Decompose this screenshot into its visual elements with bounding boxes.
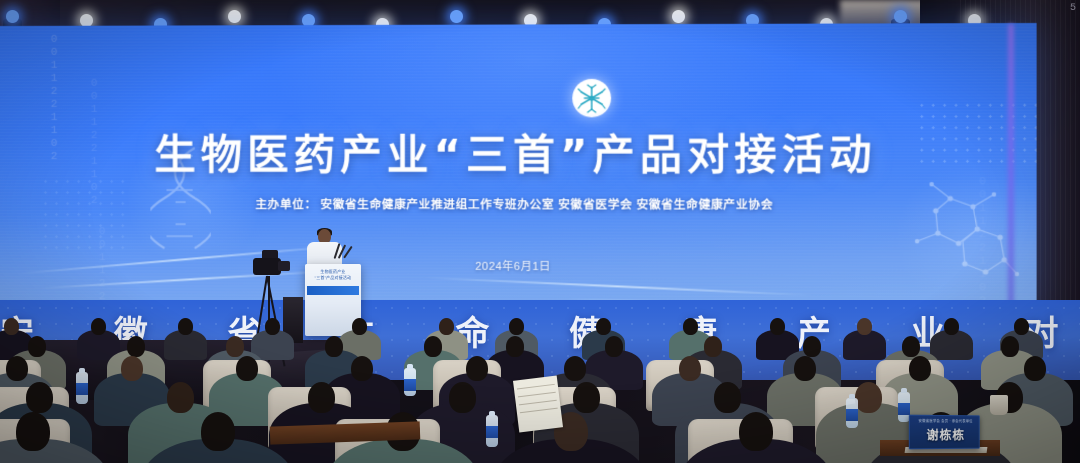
screen-edge-glow <box>1008 24 1014 319</box>
stage-light-4 <box>228 10 241 23</box>
audience-member-head <box>605 336 623 357</box>
audience-member-head <box>178 318 193 335</box>
audience-member-head <box>424 336 442 357</box>
audience-member-head <box>564 356 586 381</box>
audience-member-head <box>739 412 773 451</box>
audience-member-head <box>351 356 373 381</box>
podium-sign-line2: “三首”产品对接活动 <box>308 275 358 281</box>
audience-member-head <box>352 318 367 335</box>
light-streak-3 <box>424 277 813 297</box>
audience-member-head <box>506 336 524 357</box>
audience-member-head <box>6 356 28 381</box>
audience-member-head <box>803 336 821 357</box>
handout-document <box>513 376 563 433</box>
audience-member-head <box>439 318 454 335</box>
audience-member-head <box>944 318 959 335</box>
audience-member-head <box>26 382 53 413</box>
dot-grid-left <box>40 176 130 256</box>
bottle-cap <box>849 394 855 399</box>
banner-date: 2024年6月1日 <box>0 257 1037 275</box>
audience-member-head <box>449 382 476 413</box>
stage-light-7 <box>450 10 463 23</box>
stage-light-bulb <box>894 10 907 23</box>
audience-member-head <box>679 356 701 381</box>
bottle-cap <box>901 388 907 393</box>
audience-member-head <box>509 318 524 335</box>
audience-member-head <box>714 382 741 413</box>
audience-member-head <box>1014 318 1029 335</box>
stage-light-13 <box>894 10 907 23</box>
stage-light-bulb <box>228 10 241 23</box>
paper-line <box>520 408 558 414</box>
audience-member-head <box>236 356 258 381</box>
bottle-label <box>486 426 498 438</box>
paper-line <box>517 384 555 390</box>
audience-member-head <box>855 382 882 413</box>
audience-member-head <box>902 336 920 357</box>
audience-member-head <box>91 318 106 335</box>
audience-member-head <box>325 336 343 357</box>
audience-member-head <box>16 412 50 451</box>
audience-member-head <box>1024 356 1046 381</box>
audience-member-head <box>308 382 335 413</box>
audience-member-head <box>704 336 722 357</box>
paper-cup <box>990 395 1008 415</box>
audience-member-head <box>265 318 280 335</box>
water-bottle-2 <box>76 372 88 404</box>
name-placard: 安徽省医学会 会员 · 参会代表单位 谢栋栋 <box>909 415 980 450</box>
audience-member-head <box>167 382 194 413</box>
audience-member-head <box>226 336 244 357</box>
paper-line <box>519 400 557 406</box>
audience-member-head <box>28 336 46 357</box>
water-bottle-3 <box>404 368 416 396</box>
placard-organization: 安徽省医学会 会员 · 参会代表单位 <box>910 418 981 423</box>
water-bottle-4 <box>846 398 858 428</box>
bottle-label <box>404 379 416 391</box>
camera-body <box>253 258 281 275</box>
audience-member-head <box>770 318 785 335</box>
camera-lens <box>278 261 290 271</box>
paper-line <box>518 392 556 398</box>
bottle-label <box>76 383 88 395</box>
audience-member-head <box>573 382 600 413</box>
audience-member-head <box>794 356 816 381</box>
bottle-label <box>846 409 858 421</box>
main-led-screen: 0011221102 0011221102 0011221102 0011221… <box>0 23 1037 319</box>
audience-member-head <box>201 412 235 451</box>
audience-member-head <box>4 318 19 335</box>
audience-member-head <box>466 356 488 381</box>
stage-light-10 <box>672 10 685 23</box>
conference-photo: 0011221102 0011221102 0011221102 0011221… <box>0 0 1080 463</box>
stage-light-bulb <box>6 10 19 23</box>
audience-member-head <box>127 336 145 357</box>
bottle-cap <box>79 368 85 373</box>
banner-title: 生物医药产业“三首”产品对接活动 <box>0 120 1037 181</box>
radiating-star-emblem-icon <box>576 83 607 113</box>
audience-member-head <box>857 318 872 335</box>
bottle-cap <box>407 364 413 369</box>
banner-organizers: 主办单位： 安徽省生命健康产业推进组工作专班办公室 安徽省医学会 安徽省生命健康… <box>0 196 1037 213</box>
audience-member-head <box>1001 336 1019 357</box>
event-logo <box>572 79 611 118</box>
audience-member-head <box>121 356 143 381</box>
placard-name: 谢栋栋 <box>910 426 981 443</box>
water-bottle-1 <box>486 415 498 447</box>
stage-light-bulb <box>672 10 685 23</box>
audience-member-head <box>909 356 931 381</box>
podium-sign: 生物医药产业 “三首”产品对接活动 <box>308 267 358 284</box>
bottle-cap <box>489 411 495 416</box>
stage-light-1 <box>6 10 19 23</box>
audience-member-head <box>683 318 698 335</box>
stage-light-bulb <box>450 10 463 23</box>
audience-member-head <box>596 318 611 335</box>
bottle-label <box>898 403 910 415</box>
camera-hood <box>262 250 278 258</box>
podium-accent-band <box>307 286 359 295</box>
corner-watermark: 5 <box>1070 3 1076 14</box>
